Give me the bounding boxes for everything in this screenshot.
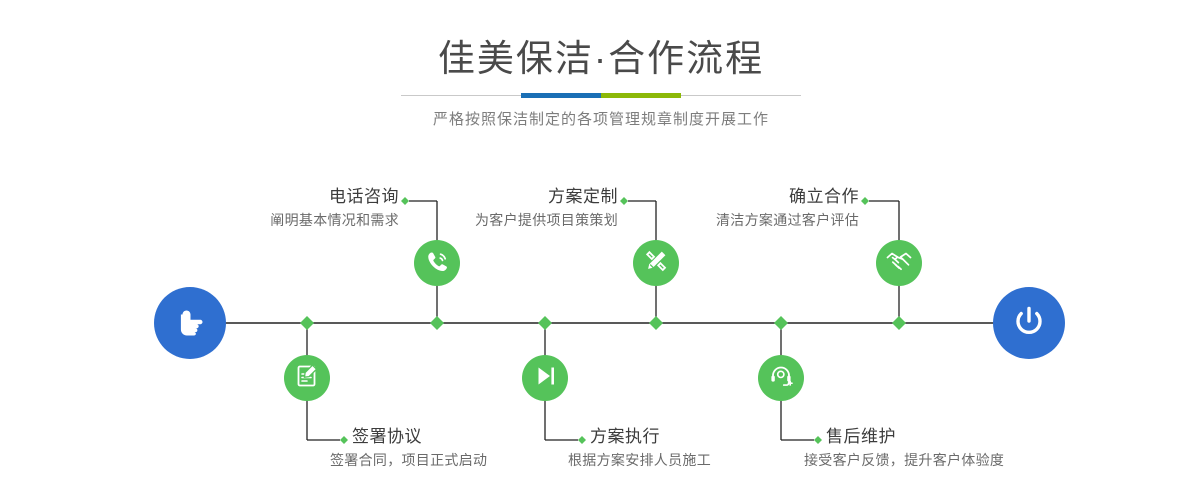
node-icon-step-5[interactable] <box>876 240 922 286</box>
axis-diamond-step-4 <box>538 316 552 330</box>
cooperation-process-infographic: 佳美保洁·合作流程 严格按照保洁制定的各项管理规章制度开展工作 <box>0 0 1202 502</box>
pointing-hand-icon <box>170 301 210 346</box>
flow-end-node[interactable] <box>993 287 1065 359</box>
axis-diamond-step-3 <box>649 316 663 330</box>
node-icon-step-2[interactable] <box>284 355 330 401</box>
label-desc-step-6: 接受客户反馈，提升客户体验度 <box>804 450 1004 471</box>
label-step-2: 签署协议 签署合同，项目正式启动 <box>352 426 487 471</box>
label-desc-step-1: 阐明基本情况和需求 <box>181 210 399 231</box>
label-desc-step-5: 清洁方案通过客户评估 <box>641 210 859 231</box>
customer-support-icon <box>767 362 795 395</box>
label-desc-step-4: 根据方案安排人员施工 <box>568 450 711 471</box>
label-desc-step-3: 为客户提供项目策策划 <box>400 210 618 231</box>
flow-start-node[interactable] <box>154 287 226 359</box>
document-edit-icon <box>293 362 321 395</box>
label-title-step-5: 确立合作 <box>641 186 859 208</box>
label-step-1: 电话咨询 阐明基本情况和需求 <box>181 186 399 231</box>
label-title-step-1: 电话咨询 <box>181 186 399 208</box>
label-diamond-step-2 <box>340 436 348 444</box>
node-icon-step-1[interactable] <box>414 240 460 286</box>
label-step-3: 方案定制 为客户提供项目策策划 <box>400 186 618 231</box>
axis-diamond-step-2 <box>300 316 314 330</box>
axis-diamond-step-5 <box>892 316 906 330</box>
label-diamond-step-6 <box>814 436 822 444</box>
label-step-6: 售后维护 接受客户反馈，提升客户体验度 <box>826 426 1004 471</box>
label-diamond-step-3 <box>620 197 628 205</box>
label-desc-step-2: 签署合同，项目正式启动 <box>330 450 487 471</box>
power-icon <box>1009 301 1049 346</box>
label-step-4: 方案执行 根据方案安排人员施工 <box>590 426 711 471</box>
node-icon-step-6[interactable] <box>758 355 804 401</box>
label-diamond-step-5 <box>861 197 869 205</box>
axis-diamond-step-6 <box>774 316 788 330</box>
label-step-5: 确立合作 清洁方案通过客户评估 <box>641 186 859 231</box>
play-next-icon <box>531 362 559 395</box>
label-title-step-3: 方案定制 <box>400 186 618 208</box>
handshake-icon <box>884 246 914 281</box>
label-title-step-6: 售后维护 <box>826 426 1004 448</box>
node-icon-step-4[interactable] <box>522 355 568 401</box>
label-diamond-step-4 <box>578 436 586 444</box>
phone-call-icon <box>423 247 451 280</box>
pencil-ruler-icon <box>642 247 670 280</box>
label-title-step-2: 签署协议 <box>352 426 487 448</box>
label-title-step-4: 方案执行 <box>590 426 711 448</box>
node-icon-step-3[interactable] <box>633 240 679 286</box>
axis-diamond-step-1 <box>430 316 444 330</box>
process-flow: 电话咨询 阐明基本情况和需求 方案定制 为客户提供项目策策划 确立合作 清洁方案… <box>0 0 1202 502</box>
